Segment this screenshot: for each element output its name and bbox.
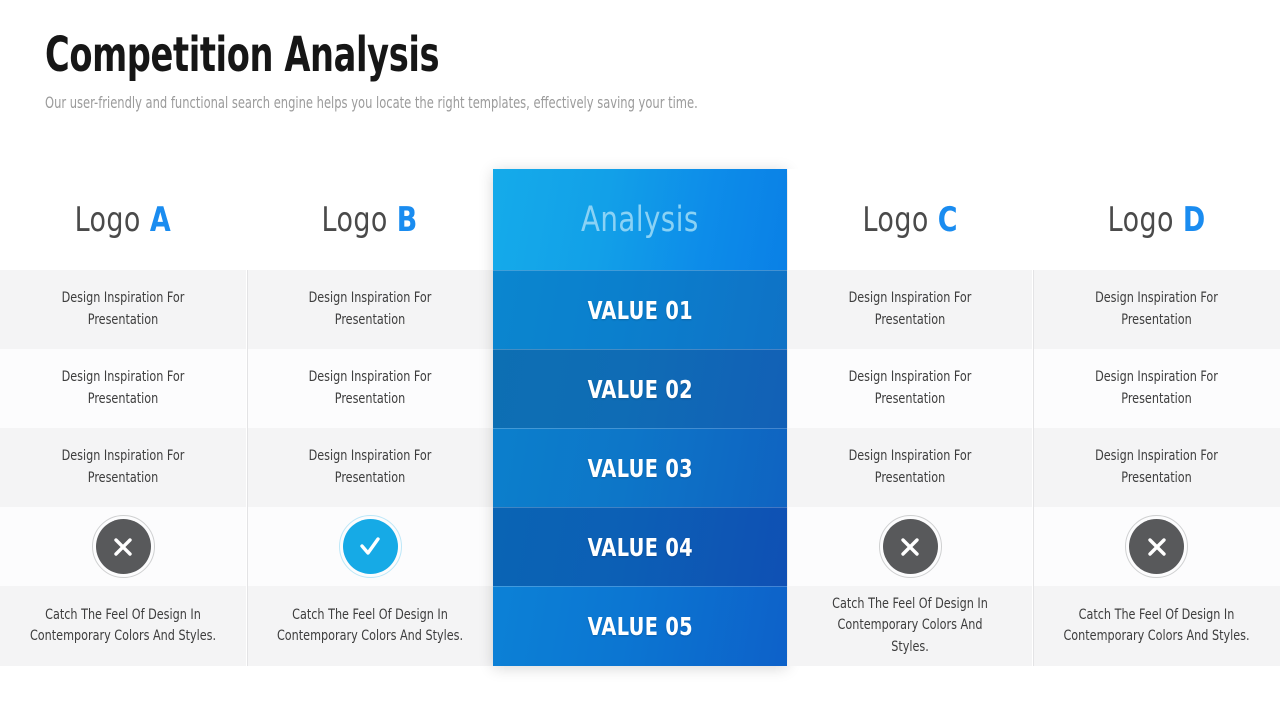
- table-cell: Catch The Feel Of Design In Contemporary…: [0, 586, 246, 666]
- analysis-row-label: VALUE 05: [587, 612, 692, 641]
- column-header-logo-a: Logo A: [0, 169, 246, 270]
- column-header-logo-d: Logo D: [1033, 169, 1280, 270]
- cell-text: Design Inspiration For Presentation: [29, 288, 216, 330]
- check-icon: [343, 519, 398, 574]
- table-cell-icon: [1033, 507, 1280, 586]
- analysis-row-label: VALUE 01: [587, 296, 692, 325]
- table-cell: Design Inspiration For Presentation: [0, 428, 246, 507]
- table-cell: Design Inspiration For Presentation: [0, 349, 246, 428]
- column-header-logo-c: Logo C: [788, 169, 1032, 270]
- column-divider: [1033, 270, 1034, 666]
- table-cell-icon: [247, 507, 493, 586]
- cell-text: Catch The Feel Of Design In Contemporary…: [1062, 605, 1250, 647]
- table-cell: Catch The Feel Of Design In Contemporary…: [788, 586, 1032, 666]
- table-cell-icon: [0, 507, 246, 586]
- comparison-table: Logo A Design Inspiration For Presentati…: [0, 169, 1280, 666]
- table-column-logo-d: Logo D Design Inspiration For Presentati…: [1033, 169, 1280, 666]
- table-cell: Design Inspiration For Presentation: [788, 349, 1032, 428]
- logo-b-label: Logo B: [322, 200, 418, 240]
- table-cell: Design Inspiration For Presentation: [788, 270, 1032, 349]
- cell-text: Design Inspiration For Presentation: [1062, 288, 1250, 330]
- table-cell-icon: [788, 507, 1032, 586]
- table-cell: Design Inspiration For Presentation: [1033, 349, 1280, 428]
- cell-text: Catch The Feel Of Design In Contemporary…: [276, 605, 463, 647]
- cell-text: Design Inspiration For Presentation: [1062, 367, 1250, 409]
- table-column-logo-b: Logo B Design Inspiration For Presentati…: [247, 169, 493, 666]
- cell-text: Catch The Feel Of Design In Contemporary…: [29, 605, 216, 647]
- table-column-logo-a: Logo A Design Inspiration For Presentati…: [0, 169, 246, 666]
- table-cell: Design Inspiration For Presentation: [247, 349, 493, 428]
- analysis-row: VALUE 01: [493, 270, 787, 349]
- logo-b-prefix: Logo: [322, 200, 388, 240]
- cell-text: Design Inspiration For Presentation: [276, 367, 463, 409]
- table-cell: Catch The Feel Of Design In Contemporary…: [1033, 586, 1280, 666]
- logo-a-mark: A: [150, 200, 171, 240]
- table-cell: Design Inspiration For Presentation: [0, 270, 246, 349]
- logo-a-prefix: Logo: [75, 200, 141, 240]
- analysis-row-label: VALUE 04: [587, 533, 692, 562]
- logo-a-label: Logo A: [75, 200, 172, 240]
- column-header-logo-b: Logo B: [247, 169, 493, 270]
- cross-icon: [1129, 519, 1184, 574]
- logo-d-prefix: Logo: [1107, 200, 1173, 240]
- table-column-analysis[interactable]: Analysis VALUE 01 VALUE 02 VALUE 03 VALU…: [493, 169, 787, 666]
- cell-text: Design Inspiration For Presentation: [817, 367, 1003, 409]
- logo-c-label: Logo C: [862, 200, 957, 240]
- analysis-row: VALUE 03: [493, 428, 787, 507]
- slide-canvas: Competition Analysis Our user-friendly a…: [0, 0, 1280, 720]
- page-title: Competition Analysis: [45, 28, 903, 83]
- slide-header: Competition Analysis Our user-friendly a…: [45, 28, 1145, 113]
- table-cell: Design Inspiration For Presentation: [1033, 270, 1280, 349]
- logo-c-mark: C: [938, 200, 958, 240]
- logo-b-mark: B: [397, 200, 418, 240]
- cell-text: Design Inspiration For Presentation: [276, 446, 463, 488]
- logo-d-label: Logo D: [1107, 200, 1205, 240]
- column-header-analysis: Analysis: [493, 169, 787, 270]
- analysis-row: VALUE 05: [493, 586, 787, 666]
- cell-text: Design Inspiration For Presentation: [1062, 446, 1250, 488]
- column-divider: [247, 270, 248, 666]
- table-cell: Design Inspiration For Presentation: [1033, 428, 1280, 507]
- cell-text: Design Inspiration For Presentation: [29, 367, 216, 409]
- cross-icon: [96, 519, 151, 574]
- cell-text: Design Inspiration For Presentation: [276, 288, 463, 330]
- analysis-row: VALUE 04: [493, 507, 787, 586]
- analysis-label: Analysis: [581, 200, 699, 240]
- analysis-row-label: VALUE 03: [587, 454, 692, 483]
- analysis-row: VALUE 02: [493, 349, 787, 428]
- page-subtitle: Our user-friendly and functional search …: [45, 93, 925, 113]
- logo-d-mark: D: [1183, 200, 1206, 240]
- logo-c-prefix: Logo: [862, 200, 928, 240]
- table-cell: Catch The Feel Of Design In Contemporary…: [247, 586, 493, 666]
- table-column-logo-c: Logo C Design Inspiration For Presentati…: [788, 169, 1032, 666]
- table-cell: Design Inspiration For Presentation: [247, 270, 493, 349]
- cell-text: Design Inspiration For Presentation: [817, 446, 1003, 488]
- analysis-row-label: VALUE 02: [587, 375, 692, 404]
- table-cell: Design Inspiration For Presentation: [247, 428, 493, 507]
- cell-text: Design Inspiration For Presentation: [29, 446, 216, 488]
- cell-text: Design Inspiration For Presentation: [817, 288, 1003, 330]
- cell-text: Catch The Feel Of Design In Contemporary…: [817, 594, 1003, 657]
- table-cell: Design Inspiration For Presentation: [788, 428, 1032, 507]
- cross-icon: [883, 519, 938, 574]
